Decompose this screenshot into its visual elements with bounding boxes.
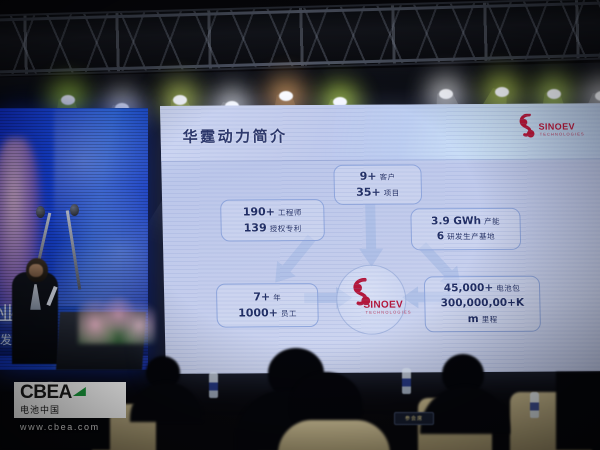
cbea-watermark: CBEA 电池中国 www.cbea.com bbox=[14, 382, 126, 444]
node-line: 7+年 bbox=[253, 289, 281, 305]
sinoev-tagline: TECHNOLOGIES bbox=[540, 131, 585, 136]
projection-screen: 华霆动力简介 SINOEV TECHNOLOGIES bbox=[160, 103, 600, 374]
light-core bbox=[279, 91, 293, 101]
speaker-face bbox=[29, 264, 43, 277]
sinoev-corner-logo: SINOEV TECHNOLOGIES bbox=[516, 111, 591, 143]
stage-light bbox=[544, 86, 564, 102]
slide-header-band: 华霆动力简介 SINOEV TECHNOLOGIES bbox=[160, 103, 600, 162]
sinoev-wordmark: SINOEV bbox=[538, 121, 575, 131]
node-packs-mileage[interactable]: 45,000+电池包 300,000,00+K m里程 bbox=[424, 276, 541, 333]
node-line: 35+项目 bbox=[356, 185, 400, 201]
cbea-brand: CBEA bbox=[20, 384, 126, 402]
stage-light bbox=[436, 86, 456, 102]
cbea-brand-cn: 电池中国 bbox=[20, 403, 126, 416]
light-core bbox=[61, 95, 75, 105]
flower-arrangement bbox=[78, 296, 156, 344]
audience-shoulders bbox=[130, 382, 202, 422]
sinoev-hub-tagline: TECHNOLOGIES bbox=[365, 309, 411, 314]
node-line: 6研发生产基地 bbox=[437, 229, 496, 245]
water-bottle bbox=[402, 368, 411, 394]
sinoev-mark-icon bbox=[516, 114, 539, 140]
light-core bbox=[173, 95, 187, 105]
conference-hall-scene: 业 发展 对 华霆动力简介 bbox=[0, 0, 600, 450]
light-core bbox=[547, 89, 561, 99]
microphone-head-left bbox=[36, 206, 45, 218]
water-bottle bbox=[209, 372, 218, 398]
slide-title: 华霆动力简介 bbox=[182, 125, 287, 147]
node-engineers-patents[interactable]: 190+工程师 139授权专利 bbox=[220, 199, 325, 242]
cbea-logo-box: CBEA 电池中国 bbox=[14, 382, 126, 418]
audience-right-block bbox=[556, 372, 600, 450]
cbea-url: www.cbea.com bbox=[20, 422, 100, 432]
node-line: 190+工程师 bbox=[243, 204, 303, 220]
stage-light bbox=[592, 88, 600, 104]
presentation-slide: 华霆动力简介 SINOEV TECHNOLOGIES bbox=[160, 103, 600, 374]
node-line: 139授权专利 bbox=[244, 220, 302, 236]
cbea-brand-text: CBEA bbox=[20, 384, 72, 402]
stage-light bbox=[276, 88, 296, 104]
node-line: 1000+员工 bbox=[238, 305, 297, 321]
audience-shirt bbox=[278, 420, 390, 450]
node-capacity-bases[interactable]: 3.9 GWh产能 6研发生产基地 bbox=[410, 208, 521, 251]
center-hub-logo[interactable]: SINOEV TECHNOLOGIES bbox=[336, 264, 408, 334]
audience-shoulders bbox=[420, 386, 510, 434]
slide-diagram: 9+客户 35+项目 190+工程师 139授权专利 bbox=[161, 159, 600, 374]
name-plate: 参会席 bbox=[394, 412, 434, 425]
node-years-employees[interactable]: 7+年 1000+员工 bbox=[216, 283, 319, 328]
arrow-from-top bbox=[358, 205, 383, 267]
stage-light bbox=[492, 84, 512, 100]
water-bottle bbox=[530, 392, 539, 418]
name-plate-text: 参会席 bbox=[395, 413, 433, 424]
node-line: 3.9 GWh产能 bbox=[431, 214, 500, 230]
leaf-icon bbox=[73, 387, 86, 396]
microphone-head-right bbox=[70, 204, 79, 216]
node-line: 300,000,00+K bbox=[441, 296, 525, 312]
node-line: m里程 bbox=[468, 312, 498, 327]
light-core bbox=[495, 87, 509, 97]
light-core bbox=[439, 89, 453, 99]
node-line: 9+客户 bbox=[359, 169, 395, 185]
node-customers-projects[interactable]: 9+客户 35+项目 bbox=[333, 164, 422, 205]
node-line: 45,000+电池包 bbox=[444, 281, 521, 297]
stage-light bbox=[58, 92, 78, 108]
